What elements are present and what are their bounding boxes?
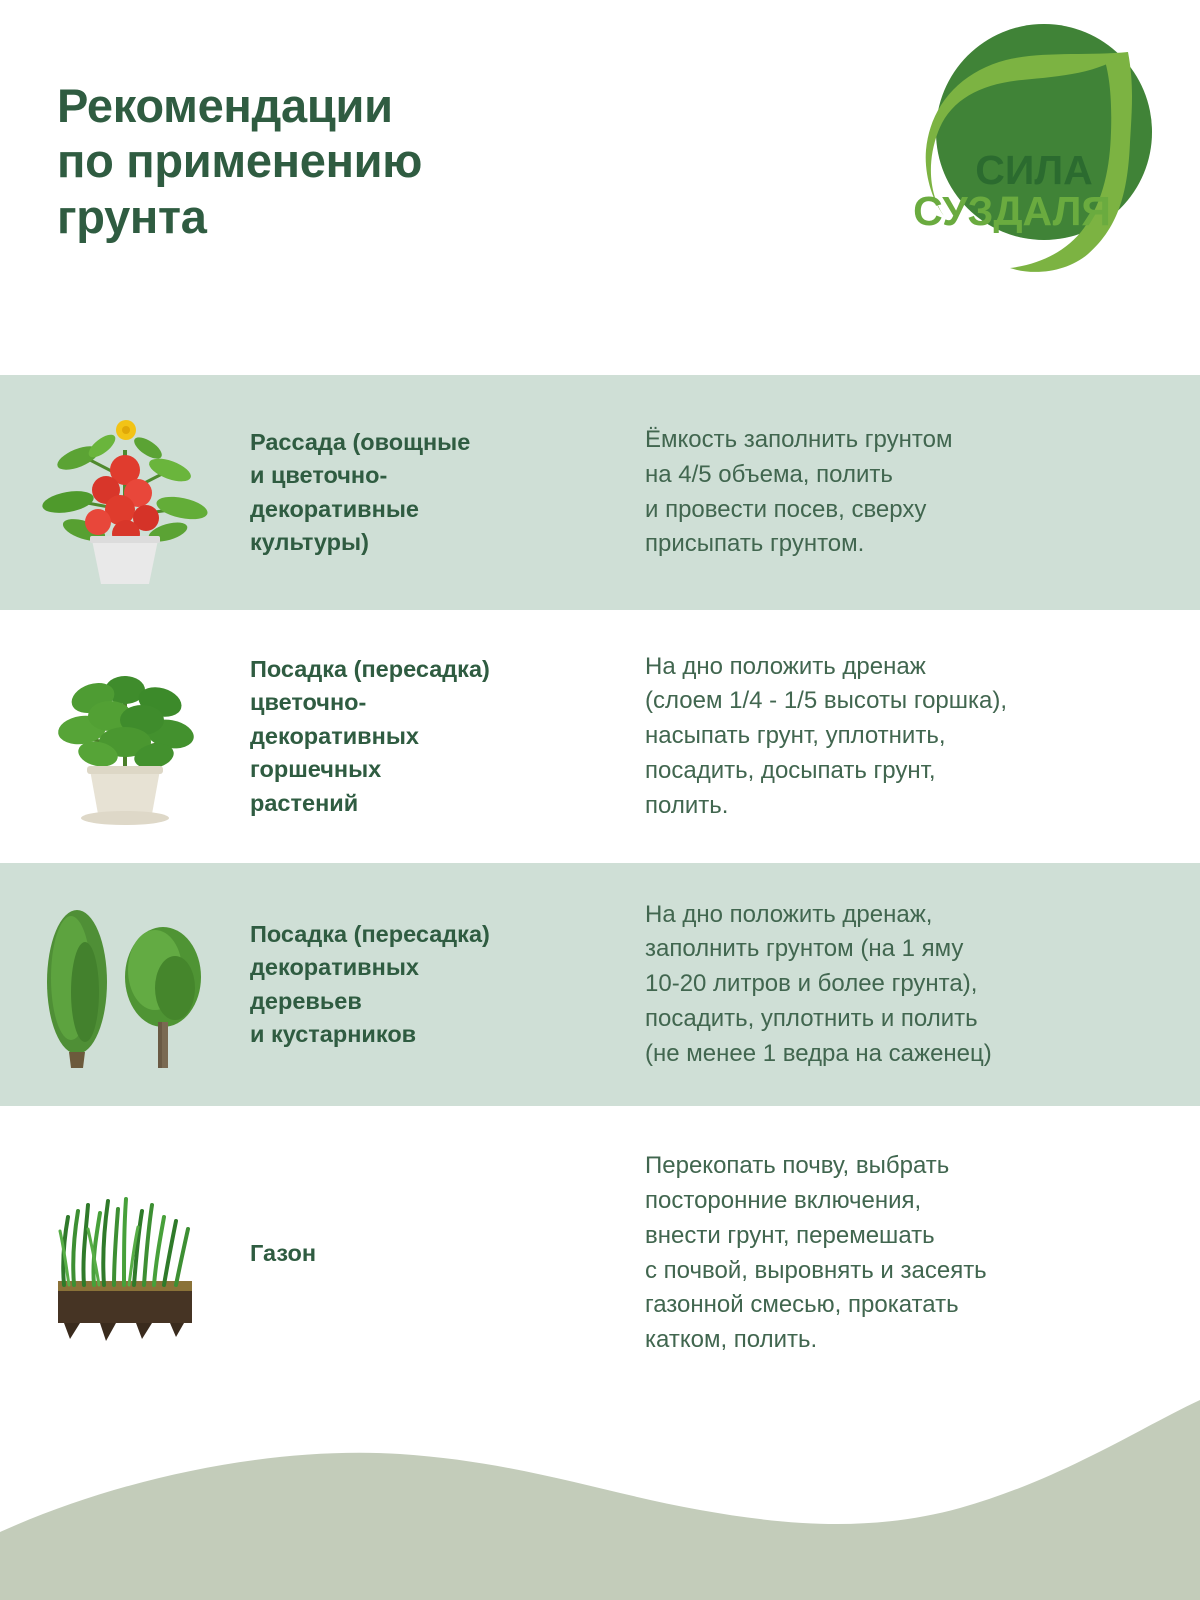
wave-shape — [0, 1400, 1200, 1600]
row-title: Рассада (овощные и цветочно- декоративны… — [250, 426, 645, 559]
infographic-page: Рекомендации по применению грунта СИЛА С… — [0, 0, 1200, 1600]
table-row: Посадка (пересадка) цветочно- декоративн… — [0, 610, 1200, 863]
row-description: На дно положить дренаж, заполнить грунто… — [645, 898, 1200, 1072]
row-image-cell — [0, 610, 250, 863]
row-title: Газон — [250, 1237, 645, 1270]
lawn-grass-turf-icon — [30, 1161, 220, 1346]
brand-logo: СИЛА СУЗДАЛЯ — [882, 14, 1172, 286]
decorative-trees-and-shrubs-icon — [25, 892, 225, 1077]
row-image-cell — [0, 1106, 250, 1401]
row-description: Перекопать почву, выбрать посторонние вк… — [645, 1149, 1200, 1358]
logo-text-line2: СУЗДАЛЯ — [913, 188, 1111, 234]
table-row: Рассада (овощные и цветочно- декоративны… — [0, 375, 1200, 610]
row-description: На дно положить дренаж (слоем 1/4 - 1/5 … — [645, 650, 1200, 824]
row-title: Посадка (пересадка) цветочно- декоративн… — [250, 653, 645, 820]
row-description: Ёмкость заполнить грунтом на 4/5 объема,… — [645, 423, 1200, 562]
row-image-cell — [0, 375, 250, 610]
table-row: Посадка (пересадка) декоративных деревье… — [0, 863, 1200, 1106]
header: Рекомендации по применению грунта СИЛА С… — [0, 0, 1200, 375]
logo-text-line1: СИЛА — [975, 147, 1092, 193]
recommendations-table: Рассада (овощные и цветочно- декоративны… — [0, 375, 1200, 1401]
page-title: Рекомендации по применению грунта — [57, 78, 677, 244]
row-title: Посадка (пересадка) декоративных деревье… — [250, 918, 645, 1051]
row-image-cell — [0, 863, 250, 1106]
table-row: Газон Перекопать почву, выбрать посторон… — [0, 1106, 1200, 1401]
potted-flowering-plant-icon — [30, 642, 220, 832]
tomato-seedling-in-pot-icon — [30, 398, 220, 588]
